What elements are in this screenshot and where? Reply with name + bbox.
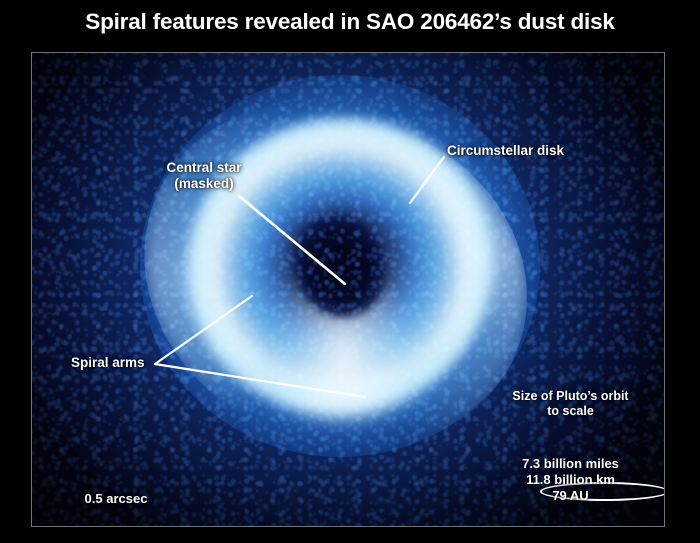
label-pluto-orbit-values: 7.3 billion miles 11.8 billion km 79 AU <box>478 456 663 504</box>
label-pluto-heading-line2: to scale <box>547 404 594 418</box>
label-central-star-line1: Central star <box>166 160 241 175</box>
label-central-star-line2: (masked) <box>174 176 233 191</box>
label-spiral-arms: Spiral arms <box>71 355 145 371</box>
label-pluto-orbit-heading: Size of Pluto’s orbitto scale <box>478 389 663 419</box>
label-pluto-heading-line1: Size of Pluto’s orbit <box>512 389 628 403</box>
label-circumstellar-disk: Circumstellar disk <box>447 143 564 159</box>
poster-root: Spiral features revealed in SAO 206462’s… <box>0 0 700 543</box>
page-title: Spiral features revealed in SAO 206462’s… <box>0 9 700 35</box>
label-central-star: Central star(masked) <box>139 160 269 192</box>
label-scale-bar: 0.5 arcsec <box>48 491 184 507</box>
